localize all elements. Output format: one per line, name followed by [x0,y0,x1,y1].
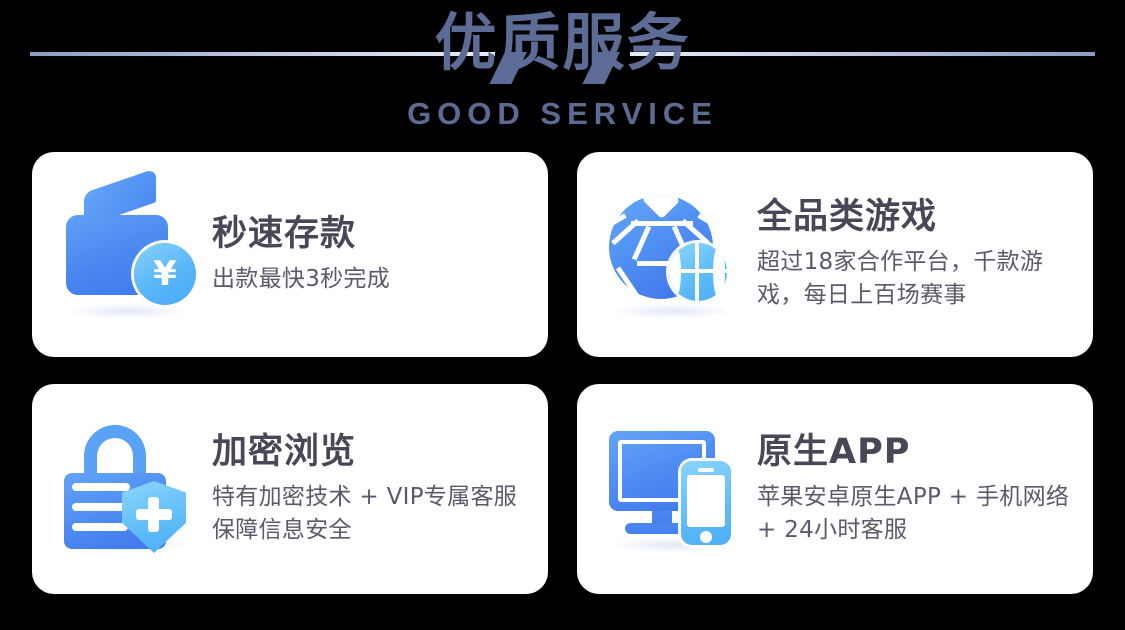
card-description: 超过18家合作平台，千款游戏，每日上百场赛事 [757,246,1075,311]
icon-shadow [611,303,735,319]
feature-card-grid: ¥ 秒速存款 出款最快3秒完成 [32,152,1093,594]
card-text-block: 秒速存款 出款最快3秒完成 [206,214,530,296]
wallet-yen-icon: ¥ [58,185,206,325]
basketball-icon [669,243,727,301]
monitor-phone-icon [603,419,751,559]
phone-screen [687,475,725,527]
lock-shield-icon [58,419,206,559]
feature-card-games[interactable]: 全品类游戏 超过18家合作平台，千款游戏，每日上百场赛事 [577,152,1093,357]
card-text-block: 全品类游戏 超过18家合作平台，千款游戏，每日上百场赛事 [751,197,1075,312]
soccer-basketball-icon [603,185,751,325]
yen-coin-icon: ¥ [134,243,196,305]
feature-card-deposit[interactable]: ¥ 秒速存款 出款最快3秒完成 [32,152,548,357]
promo-banner: 优质服务 GOOD SERVICE ¥ 秒速存款 出款最快3秒完成 [0,0,1125,630]
phone-icon [681,461,731,545]
card-text-block: 加密浏览 特有加密技术 + VIP专属客服保障信息安全 [206,432,530,547]
card-title: 加密浏览 [212,432,530,472]
feature-card-native-app[interactable]: 原生APP 苹果安卓原生APP + 手机网络 + 24小时客服 [577,384,1093,594]
card-description: 出款最快3秒完成 [212,263,530,296]
feature-card-encryption[interactable]: 加密浏览 特有加密技术 + VIP专属客服保障信息安全 [32,384,548,594]
icon-shadow [66,303,190,319]
page-subtitle: GOOD SERVICE [0,96,1125,132]
card-description: 苹果安卓原生APP + 手机网络 + 24小时客服 [757,481,1075,546]
card-title: 全品类游戏 [757,197,1075,237]
card-title: 原生APP [757,432,1075,472]
card-title: 秒速存款 [212,214,530,254]
phone-home-button [700,531,712,543]
card-description: 特有加密技术 + VIP专属客服保障信息安全 [212,481,530,546]
page-title: 优质服务 [0,8,1125,77]
header: 优质服务 GOOD SERVICE [0,0,1125,148]
phone-speaker [698,468,714,472]
yen-symbol: ¥ [153,257,177,291]
card-text-block: 原生APP 苹果安卓原生APP + 手机网络 + 24小时客服 [751,432,1075,547]
